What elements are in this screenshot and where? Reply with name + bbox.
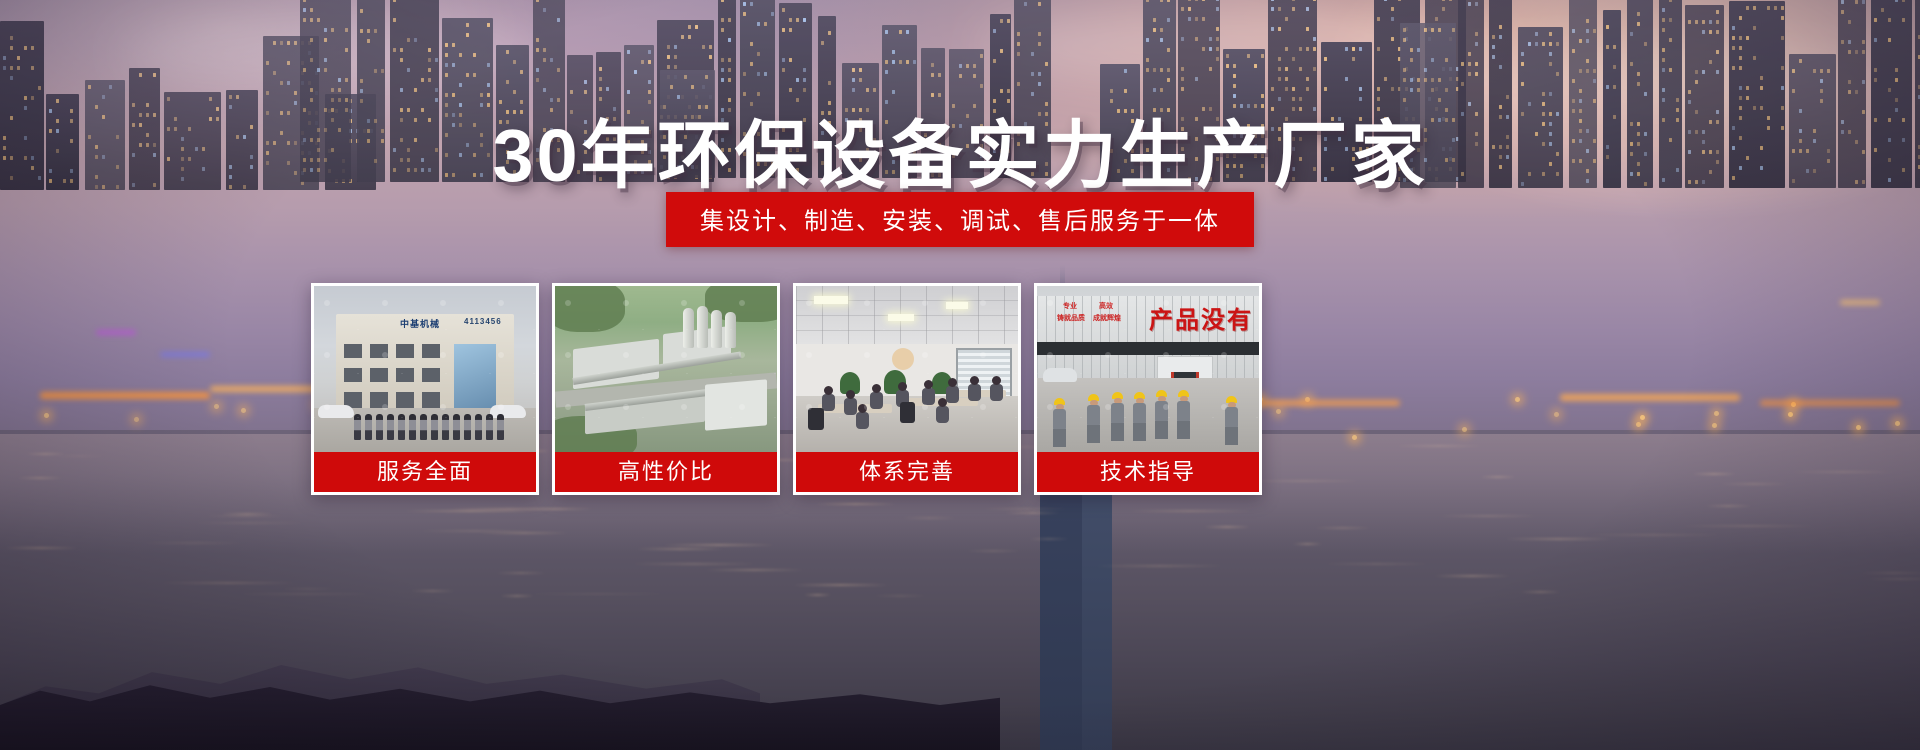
worker-torso [1155,401,1168,423]
building-window-light [1695,20,1698,24]
building-window-light [1417,88,1420,92]
building-window-light [1572,29,1575,33]
building-window-light [1848,90,1851,94]
street-lamp-light [134,417,139,422]
building-window-light [728,18,731,22]
building-window-light [428,68,431,72]
building-window-light [764,22,767,26]
building-window-light [1739,16,1742,20]
staff-member [497,414,504,440]
building-window-light [757,92,760,96]
building-window-light [1593,29,1596,33]
building-window-light [1874,68,1877,72]
building-window-light [1345,47,1348,51]
worker-legs [1225,427,1238,445]
building-window-light [1855,50,1858,54]
building-window-light [1709,60,1712,64]
seated-person-body [968,384,981,401]
building-window-light [10,46,13,50]
building-window-light [513,60,516,64]
building-window-light [906,30,909,34]
building-window-light [1549,32,1552,36]
seated-person-head [992,376,1001,385]
building-window-light [1732,26,1735,30]
building-window-light [487,23,490,27]
building-window-light [1403,38,1406,42]
building-window-light [374,29,377,33]
building-window-light [1038,32,1041,36]
building-window-light [1306,27,1309,31]
building-window-light [374,69,377,73]
building-window-light [1781,36,1784,40]
building-window-light [938,73,941,77]
water-reflection-streak [1692,473,1736,475]
seated-person-body [856,412,869,429]
building-window-light [1739,56,1742,60]
building-window-light [1202,17,1205,21]
building-window-light [1233,84,1236,88]
building-window-light [1160,68,1163,72]
building-window-light [1261,54,1264,58]
seated-person-body [822,394,835,411]
building-window-light [1285,77,1288,81]
company-headquarters-building-photo: 中基机械 4113456 [314,286,536,452]
building-window-light [1593,79,1596,83]
building-window-light [1475,42,1478,46]
building-window-light [428,58,431,62]
ceiling-light-panel [888,314,914,321]
building-window-light [360,89,363,93]
building-window-light [1709,20,1712,24]
building-window-light [743,2,746,6]
building-window-light [294,91,297,95]
building-window-light [393,48,396,52]
building-window-light [1613,45,1616,49]
water-reflection-streak [1720,483,1788,485]
building-window-light [1445,58,1448,62]
building-window-light [1410,88,1413,92]
water-reflection-streak [18,477,61,479]
building-window-light [139,73,142,77]
building-window-light [1216,47,1219,51]
building-window-light [1895,68,1898,72]
building-window-light [599,87,602,91]
building-window-light [599,77,602,81]
ceiling-light-panel [946,302,968,309]
building-window-light [1195,0,1198,1]
building-window-light [1202,47,1205,51]
building-logo-text: 中基机械 [400,317,440,330]
water-reflection-streak [1029,538,1069,540]
feature-card-technical[interactable]: 产品没有 专业 高效 铸就品质 成就辉煌 技术指导 [1034,283,1262,495]
building-window [370,344,388,358]
neon-light-strip [1560,394,1740,401]
building-window-light [1285,87,1288,91]
building-window-light [1475,72,1478,76]
building-window [370,368,388,382]
building-window-light [1285,17,1288,21]
building-window-light [331,28,334,32]
feature-card-list: 中基机械 4113456 服务全面 [311,283,1561,495]
building-window-light [1881,8,1884,12]
water-reflection-streak [1860,572,1920,574]
building-window-light [852,88,855,92]
building-window-light [303,8,306,12]
building-window-light [852,68,855,72]
building-window-light [705,75,708,79]
building-window-light [828,81,831,85]
building-window-light [1688,20,1691,24]
building-window-light [345,28,348,32]
building-window-light [24,46,27,50]
building-window-light [1181,67,1184,71]
building-window-light [324,38,327,42]
feature-card-value[interactable]: 高性价比 [552,283,780,495]
building-window-light [1431,28,1434,32]
seated-person-body [870,392,883,409]
building-window-light [459,53,462,57]
watermark-dot [565,352,571,358]
building-window-light [1306,7,1309,11]
building-window-light [1662,58,1665,62]
building-window-light [1424,68,1427,72]
building-window-light [473,73,476,77]
building-window-light [1181,77,1184,81]
building-window-light [1352,57,1355,61]
building-window-light [1031,72,1034,76]
building-window-light [1702,30,1705,34]
street-lamp-light [1895,421,1900,426]
building-window-light [728,68,731,72]
building-window-light [1452,28,1455,32]
building-window-light [1888,18,1891,22]
building-window-light [1359,87,1362,91]
water-reflection-streak [1520,591,1561,593]
office-chair [808,408,824,430]
building-window-light [667,65,670,69]
building-window-light [1549,52,1552,56]
building-window-light [3,66,6,70]
building-window-light [317,18,320,22]
building-window-light [1760,86,1763,90]
building-window-light [1195,17,1198,21]
staff-member [431,414,438,440]
staff-member [409,414,416,440]
building-window-light [1669,18,1672,22]
building-window-light [1017,52,1020,56]
building-window-light [648,60,651,64]
building-window-light [317,68,320,72]
building-window-light [1167,48,1170,52]
building-window-light [1662,18,1665,22]
building-window-light [966,64,969,68]
building-window-light [709,55,712,59]
building-window-light [466,23,469,27]
building-window-light [796,18,799,22]
building-window-light [1492,35,1495,39]
building-window-light [513,90,516,94]
building-window-light [584,80,587,84]
building-window-light [38,86,41,90]
building-window-light [721,28,724,32]
watermark-dot [440,300,446,306]
building-window-light [913,60,916,64]
building-window-light [1521,82,1524,86]
building-window-light [1841,40,1844,44]
building-window-light [684,75,687,79]
building-window-light [1007,89,1010,93]
staff-member [486,414,493,440]
wall-decoration [892,348,914,370]
factory-slogan-c: 铸就品质 [1057,314,1085,323]
building-window-light [1702,20,1705,24]
building-window-light [1449,0,1452,1]
water-reflection-streak [160,582,296,584]
building-window-light [536,68,539,72]
building-window [344,344,362,358]
building-window-light [728,38,731,42]
water-reflection-streak [141,542,245,544]
neon-light-strip [1840,300,1880,305]
building-window-light [1110,89,1113,93]
feature-card-system[interactable]: 体系完善 [793,283,1021,495]
water-reflection-streak [1681,525,1815,527]
building-window-light [10,66,13,70]
building-window-light [1442,0,1445,1]
building-window-light [1278,67,1281,71]
building-window-light [1586,59,1589,63]
building-window-light [1902,18,1905,22]
building-window-light [1492,45,1495,49]
building-window-light [1781,66,1784,70]
watermark-dot [498,300,504,306]
building-window-light [1746,86,1749,90]
storage-silo [683,308,694,348]
building-window-light [973,74,976,78]
building-window-light [266,61,269,65]
building-window-light [764,72,767,76]
building-window-light [1188,0,1191,1]
building-window-light [1313,47,1316,51]
building-window-light [1874,18,1877,22]
building-window-light [1579,69,1582,73]
building-window-light [414,88,417,92]
building-window-light [400,48,403,52]
factory-slogan-main: 产品没有 [1149,300,1253,335]
water-reflection-streak [901,517,957,519]
building-window-light [1662,48,1665,52]
building-window-light [310,18,313,22]
building-window-light [303,0,306,2]
building-window-light [536,48,539,52]
building-window [344,368,362,382]
building-window-light [973,64,976,68]
water-reflection-streak [522,508,593,510]
building-window-light [803,88,806,92]
building-window-light [1732,36,1735,40]
building-window-light [702,45,705,49]
building-window-light [1188,17,1191,21]
building-window-light [1888,88,1891,92]
building-window-light [1637,12,1640,16]
building-window-light [1181,7,1184,11]
factory-building [705,379,767,430]
building-window-light [1285,67,1288,71]
building-window-light [31,46,34,50]
building-window [370,392,388,408]
building-window-light [782,68,785,72]
water-reflection-streak [205,515,284,517]
worker-torso [1111,403,1124,425]
subtitle-ribbon: 集设计、制造、安装、调试、售后服务于一体 [666,192,1254,247]
building-window-light [393,18,396,22]
building-window-light [1431,78,1434,82]
building-window-light [1855,0,1858,4]
seated-person-body [946,386,959,403]
building-window-light [1468,62,1471,66]
building-window-light [1299,47,1302,51]
factory-slogan-a: 专业 [1063,302,1077,311]
staff-member [365,414,372,440]
building-window-light [1000,19,1003,23]
building-window-light [338,78,341,82]
building-window-light [667,55,670,59]
building-window-light [381,69,384,73]
building-window-light [674,55,677,59]
building-window-light [294,41,297,45]
building-window-light [634,70,637,74]
building-window-light [1535,32,1538,36]
building-window-light [1038,42,1041,46]
building-window-light [280,41,283,45]
building-window-light [750,42,753,46]
building-window-light [1895,78,1898,82]
seated-person-head [824,386,833,395]
building-window-light [1377,17,1380,21]
building-window-light [1848,40,1851,44]
building-window-light [324,68,327,72]
building-window-light [1688,90,1691,94]
worker-legs [1155,421,1168,439]
building-window-light [487,63,490,67]
ceiling-light-panel [814,296,848,304]
building-window-light [1669,38,1672,42]
staff-member [376,414,383,440]
building-window-light [1841,10,1844,14]
building-window-light [1438,28,1441,32]
building-window-light [1709,30,1712,34]
building-window-light [1153,68,1156,72]
building-window-light [721,18,724,22]
building-window-light [1424,78,1427,82]
building-window-light [1662,28,1665,32]
feature-card-caption: 体系完善 [796,452,1018,492]
building-window-light [1195,77,1198,81]
building-window-light [803,68,806,72]
building-window-light [1292,7,1295,11]
building-window-light [400,58,403,62]
water-reflection-streak [4,547,78,549]
seated-person-head [938,398,947,407]
staff-member [453,414,460,440]
feature-card-service[interactable]: 中基机械 4113456 服务全面 [311,283,539,495]
staff-member [464,414,471,440]
building-window-light [1528,42,1531,46]
building-window-light [1160,28,1163,32]
building-window-light [789,28,792,32]
feature-card-caption: 服务全面 [314,452,536,492]
building-window-light [1902,0,1905,2]
building-window-light [959,74,962,78]
office-chair [900,402,915,423]
staff-member [354,414,361,440]
worker-torso [1177,401,1190,423]
building-window-light [1445,88,1448,92]
neon-light-strip [1760,400,1900,406]
building-window-light [1781,16,1784,20]
building-window-light [557,68,560,72]
building-window-light [1732,46,1735,50]
building-window-light [1306,77,1309,81]
building-window-light [1637,72,1640,76]
building-window-light [287,61,290,65]
building-window-light [1352,47,1355,51]
building-window-light [695,25,698,29]
building-window-light [796,78,799,82]
building-window-light [1324,87,1327,91]
watermark-dot [324,352,330,358]
building-window-light [421,78,424,82]
building-window-light [674,65,677,69]
building-window [396,392,414,408]
building-window-light [1216,0,1219,1]
building-window-light [892,90,895,94]
building-window-light [1007,19,1010,23]
building-window-light [1306,47,1309,51]
building-window-light [885,30,888,34]
building-window-light [1124,89,1127,93]
building-window-light [550,58,553,62]
building-window-light [310,38,313,42]
building-window-light [1630,32,1633,36]
water-reflection-streak [1585,534,1722,536]
building-window-light [1556,42,1559,46]
building-window-light [1403,28,1406,32]
building-window-light [866,88,869,92]
building-window-light [1024,2,1027,6]
building-window-light [153,73,156,77]
building-window-light [721,0,724,2]
building-window-light [782,28,785,32]
building-window-light [1813,69,1816,73]
building-window-light [743,92,746,96]
building-window-light [1431,58,1434,62]
water-reflection-streak [815,503,896,505]
building-window-light [1669,0,1672,2]
building-window-light [1216,27,1219,31]
building-window-light [1031,52,1034,56]
building-window-light [557,18,560,22]
building-window-light [1760,76,1763,80]
building-window-light [1233,64,1236,68]
building-window-light [506,80,509,84]
building-window-light [1586,39,1589,43]
watermark-dot [324,300,330,306]
building-window-light [1031,92,1034,96]
building-window-light [324,58,327,62]
building-window-light [1716,70,1719,74]
building-window-light [520,70,523,74]
